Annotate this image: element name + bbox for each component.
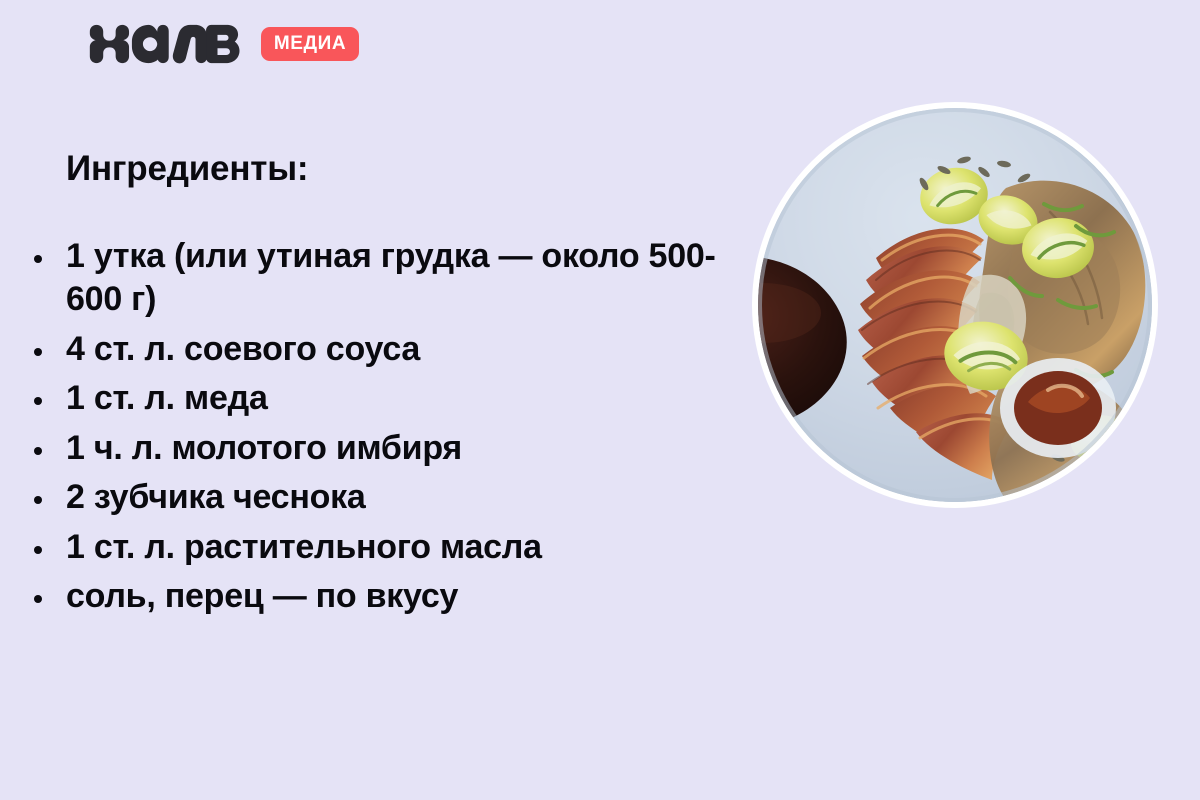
- list-item: 1 ст. л. меда: [0, 377, 760, 421]
- food-photo-ring: [752, 102, 1158, 508]
- list-item: соль, перец — по вкусу: [0, 575, 760, 619]
- brand-logo: МЕДИА: [86, 18, 359, 70]
- recipe-card: МЕДИА Ингредиенты: 1 утка (или утиная гр…: [0, 0, 1200, 800]
- ingredients-block: Ингредиенты: 1 утка (или утиная грудка —…: [0, 150, 760, 625]
- media-badge: МЕДИА: [261, 27, 359, 61]
- halva-wordmark-icon: [86, 22, 244, 66]
- list-item: 4 ст. л. соевого соуса: [0, 328, 760, 372]
- duck-dish-illustration: [758, 108, 1152, 502]
- list-item: 1 утка (или утиная грудка — около 500-60…: [0, 235, 760, 322]
- list-item: 1 ч. л. молотого имбиря: [0, 427, 760, 471]
- list-item: 1 ст. л. растительного масла: [0, 526, 760, 570]
- page-title: Ингредиенты:: [66, 150, 760, 189]
- ingredients-list: 1 утка (или утиная грудка — около 500-60…: [0, 235, 760, 619]
- list-item: 2 зубчика чеснока: [0, 476, 760, 520]
- food-photo: [758, 108, 1152, 502]
